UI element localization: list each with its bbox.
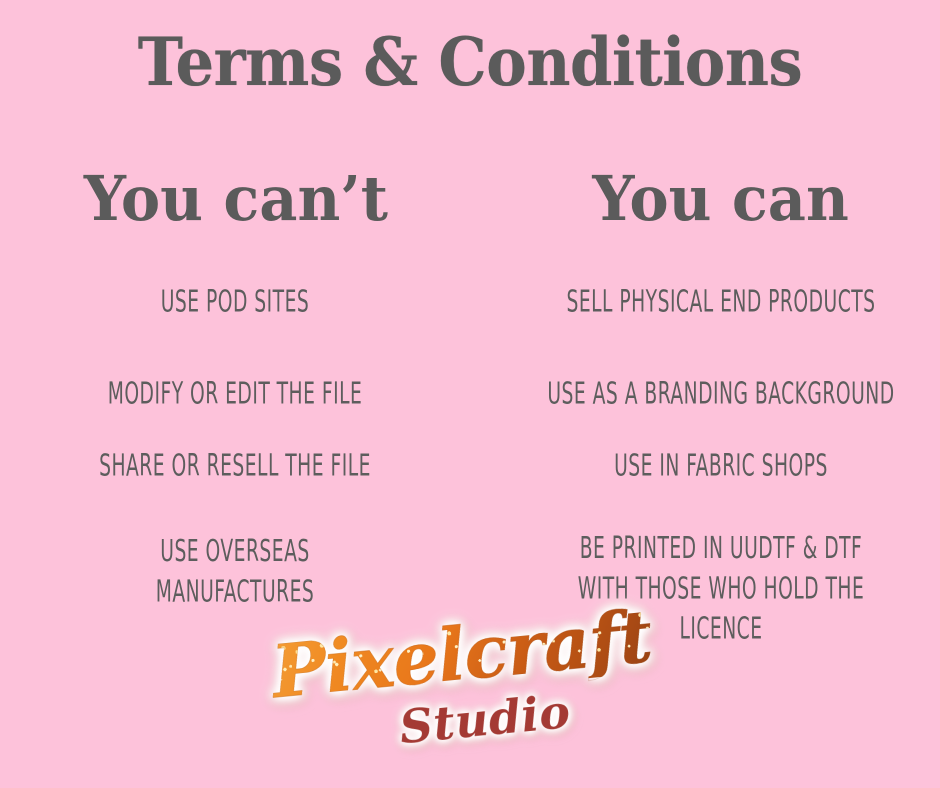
list-item: USE POD SITES [47, 283, 423, 323]
column-you-can: You can SELL PHYSICAL END PRODUCTS USE A… [470, 160, 940, 630]
list-item-line: SELL PHYSICAL END PRODUCTS [533, 283, 909, 323]
list-you-cant: USE POD SITES MODIFY OR EDIT THE FILE SH… [0, 286, 508, 607]
list-item-line: MANUFACTURES [47, 573, 423, 613]
list-item: USE AS A BRANDING BACKGROUND [533, 375, 909, 415]
brand-logo-inner: Pixelcraft Studio [249, 592, 684, 788]
list-item-line: BE PRINTED IN UUDTF & DTF [533, 530, 909, 570]
list-item-line: USE AS A BRANDING BACKGROUND [533, 375, 909, 415]
list-item-line: USE OVERSEAS [47, 533, 423, 573]
list-item-line: USE IN FABRIC SHOPS [533, 447, 909, 487]
list-item: USE IN FABRIC SHOPS [533, 447, 909, 487]
brand-logo: Pixelcraft Studio [0, 612, 940, 788]
column-heading-you-cant: You can’t [13, 168, 496, 230]
column-you-cant: You can’t USE POD SITES MODIFY OR EDIT T… [0, 160, 470, 630]
list-item: MODIFY OR EDIT THE FILE [47, 375, 423, 415]
list-item-line: SHARE OR RESELL THE FILE [47, 447, 423, 487]
terms-and-conditions-poster: Terms & Conditions You can’t USE POD SIT… [0, 0, 940, 788]
list-item-line: USE POD SITES [47, 283, 423, 323]
list-item-line: MODIFY OR EDIT THE FILE [47, 375, 423, 415]
terms-columns: You can’t USE POD SITES MODIFY OR EDIT T… [0, 160, 940, 630]
list-item: SELL PHYSICAL END PRODUCTS [533, 283, 909, 323]
list-item: SHARE OR RESELL THE FILE [47, 447, 423, 487]
page-title: Terms & Conditions [38, 28, 903, 97]
list-item: USE OVERSEAS MANUFACTURES [47, 533, 423, 613]
list-you-can: SELL PHYSICAL END PRODUCTS USE AS A BRAN… [470, 286, 940, 641]
column-heading-you-can: You can [482, 168, 940, 230]
